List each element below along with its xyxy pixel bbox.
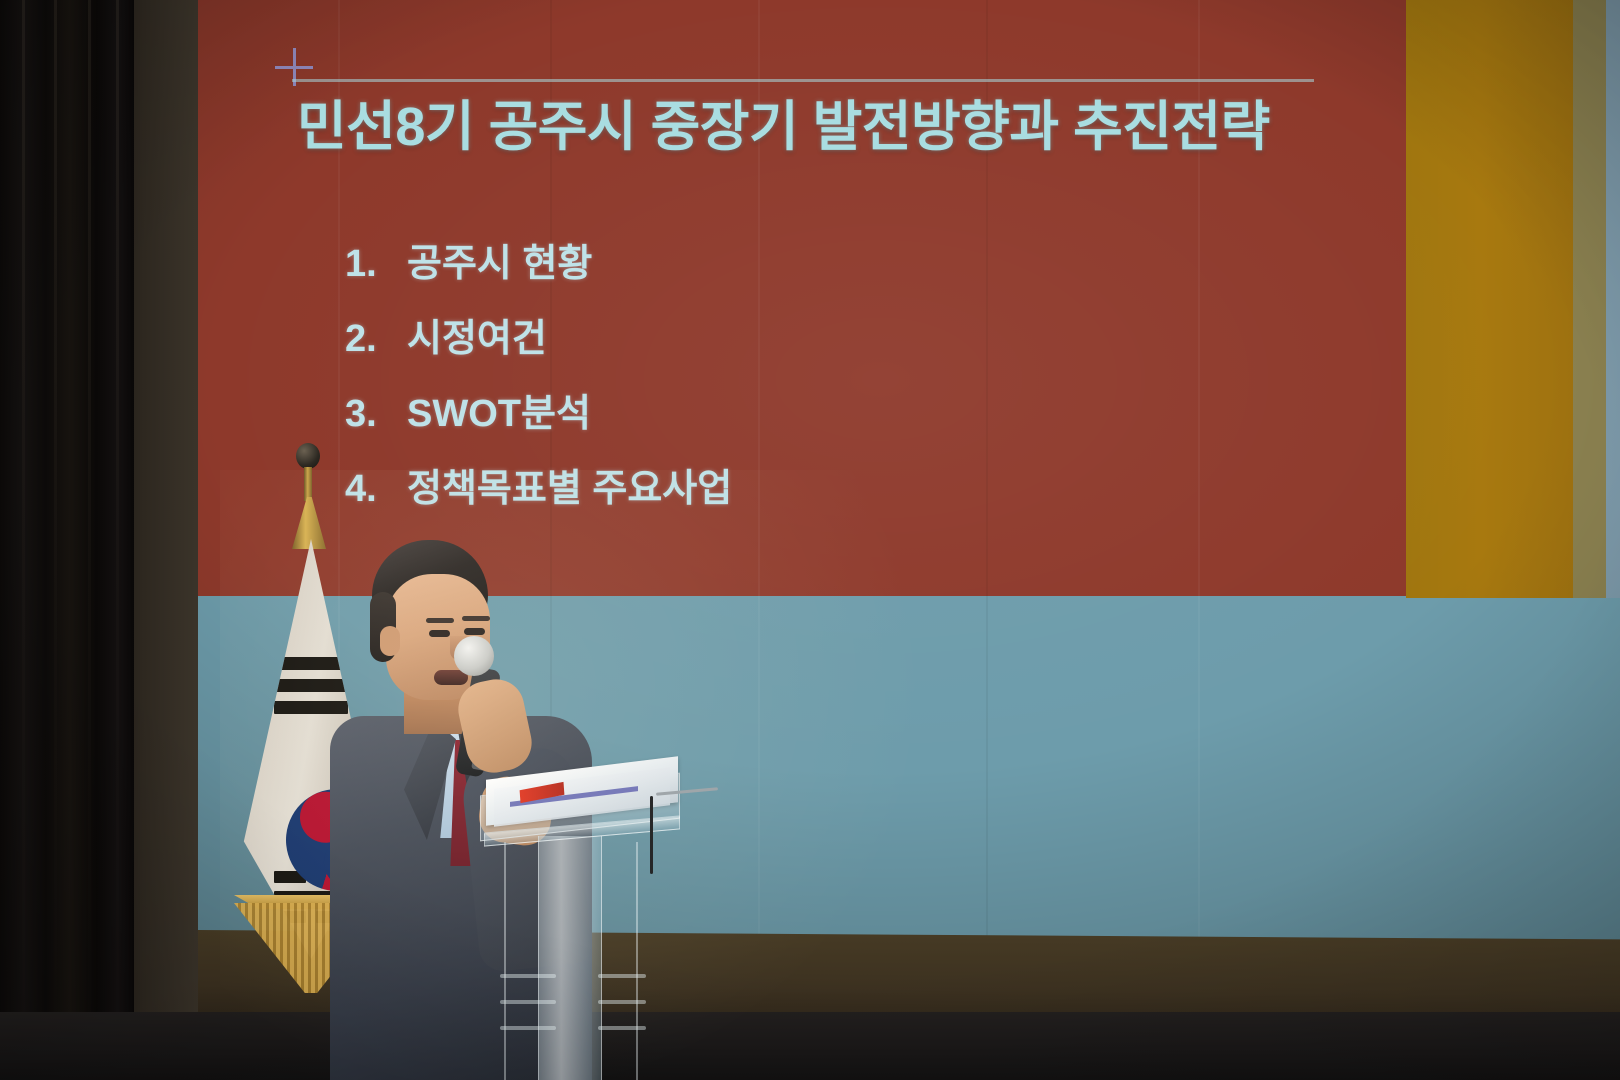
agenda-item: 4. 정책목표별 주요사업 (345, 457, 1045, 512)
agenda-label: 시정여건 (407, 307, 547, 362)
agenda-item: 1. 공주시 현황 (345, 232, 1045, 287)
speaker-ear (380, 626, 400, 656)
slide-agenda-list: 1. 공주시 현황 2. 시정여건 3. SWOT분석 4. 정책목표별 주요사… (345, 232, 1045, 532)
agenda-label: SWOT분석 (407, 382, 591, 437)
agenda-number: 3. (345, 393, 407, 436)
mic-cable (650, 796, 653, 874)
agenda-number: 1. (345, 243, 407, 286)
slide-title: 민선8기 공주시 중장기 발전방향과 추진전략 (297, 82, 1337, 161)
agenda-number: 2. (345, 318, 407, 361)
presentation-scene: 민선8기 공주시 중장기 발전방향과 추진전략 1. 공주시 현황 2. 시정여… (0, 0, 1620, 1080)
agenda-item: 2. 시정여건 (345, 307, 1045, 362)
lectern-post (538, 836, 602, 1080)
stage-floor (0, 1012, 1620, 1080)
flag-finial-icon (296, 443, 320, 469)
acrylic-lectern (480, 762, 716, 1080)
agenda-item: 3. SWOT분석 (345, 382, 1045, 437)
agenda-label: 공주시 현황 (407, 232, 592, 287)
microphone-icon (454, 636, 494, 676)
stage-curtain (0, 0, 134, 1080)
agenda-label: 정책목표별 주요사업 (407, 457, 732, 512)
flag-pole-cone (292, 497, 326, 549)
flag-pole (304, 467, 312, 501)
